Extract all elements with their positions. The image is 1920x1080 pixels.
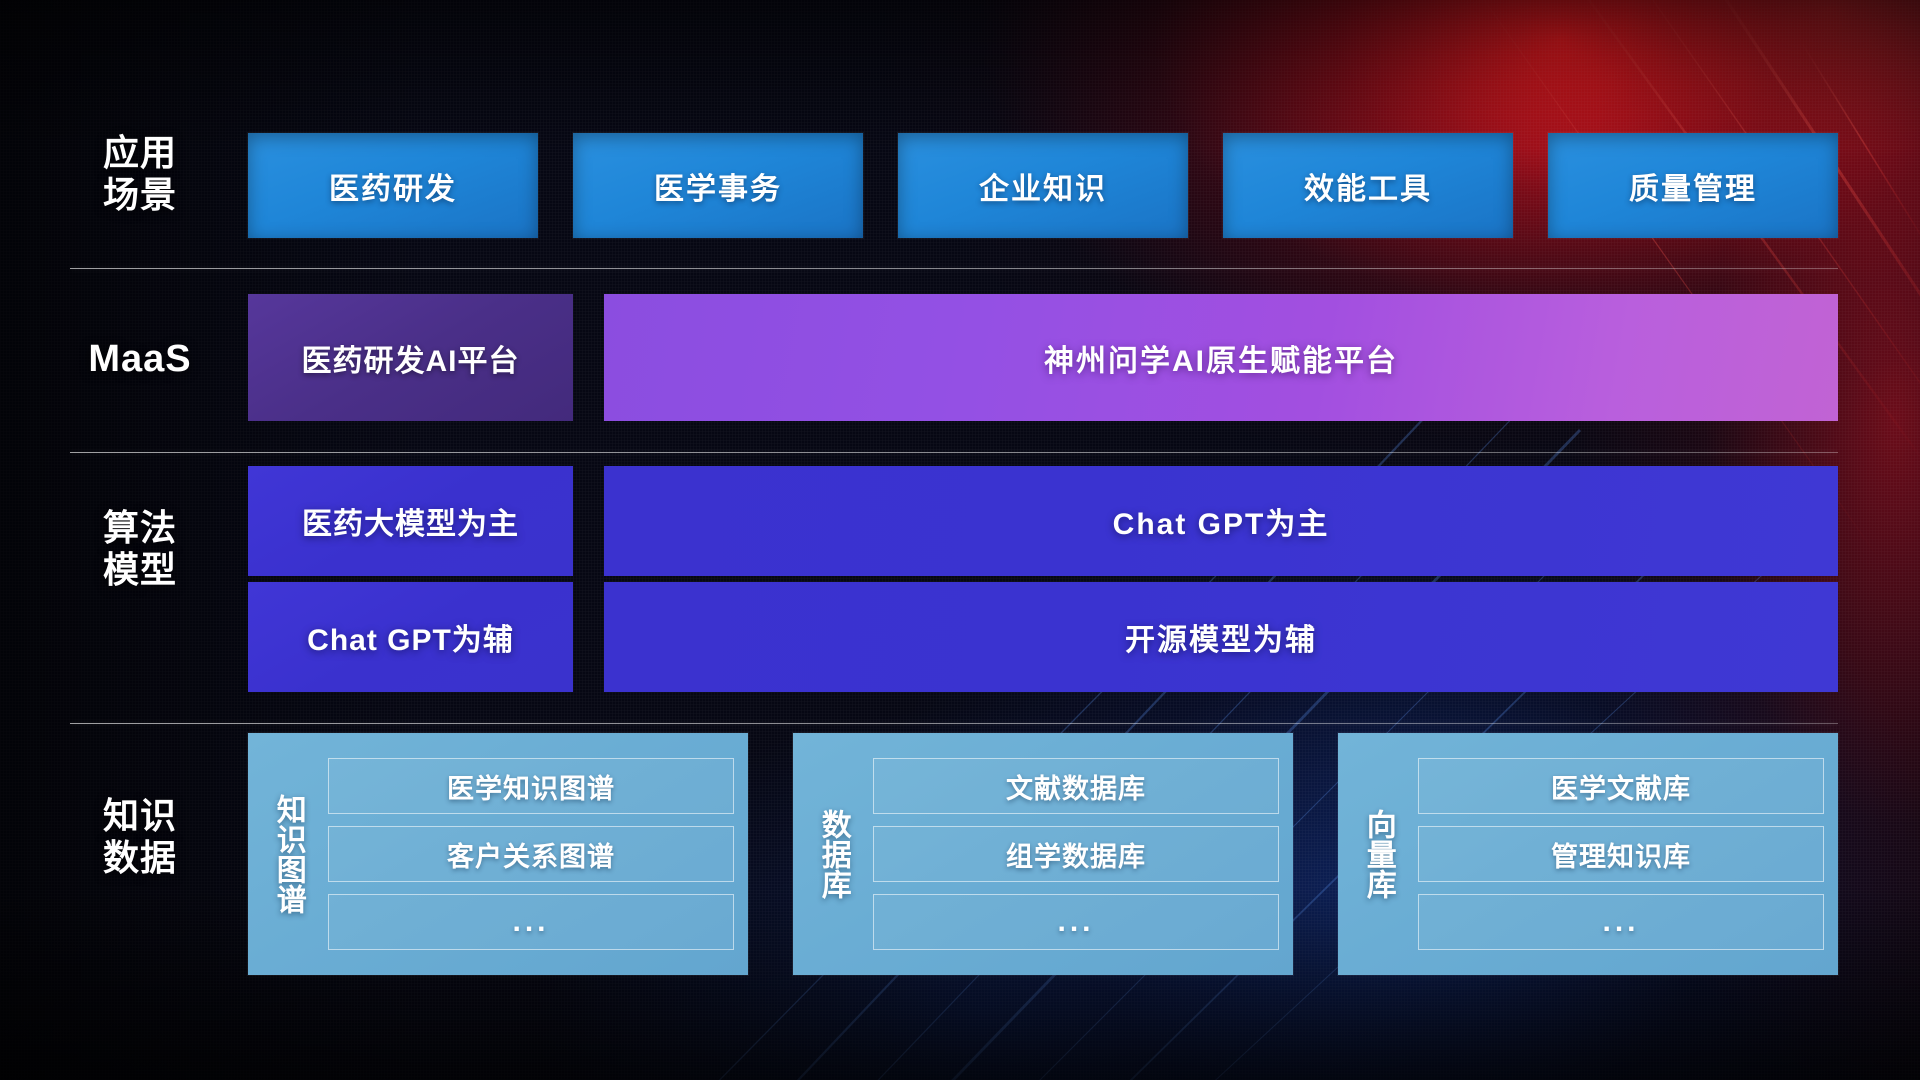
- knowledge-panel-vector-store[interactable]: 向量库 医学文献库 管理知识库 ...: [1338, 733, 1838, 975]
- knowledge-item[interactable]: 医学文献库: [1418, 758, 1824, 814]
- divider-after-maas: [70, 452, 1838, 453]
- knowledge-panel-title: 知识图谱: [262, 794, 314, 914]
- algo-tile-chatgpt-primary[interactable]: Chat GPT为主: [604, 466, 1838, 576]
- divider-after-application-scenarios: [70, 268, 1838, 269]
- algo-tile-opensource-secondary[interactable]: 开源模型为辅: [604, 582, 1838, 692]
- knowledge-item-more[interactable]: ...: [873, 894, 1279, 950]
- knowledge-panel-knowledge-graph[interactable]: 知识图谱 医学知识图谱 客户关系图谱 ...: [248, 733, 748, 975]
- knowledge-panel-database[interactable]: 数据库 文献数据库 组学数据库 ...: [793, 733, 1293, 975]
- algo-tile-medicine-llm-primary[interactable]: 医药大模型为主: [248, 466, 573, 576]
- knowledge-item-more[interactable]: ...: [1418, 894, 1824, 950]
- maas-tile-medicine-ai-platform[interactable]: 医药研发AI平台: [248, 294, 573, 421]
- knowledge-item[interactable]: 医学知识图谱: [328, 758, 734, 814]
- row-label-line: 模型: [70, 549, 210, 591]
- knowledge-panel-items: 文献数据库 组学数据库 ...: [873, 758, 1279, 950]
- row-label-line: 知识: [70, 795, 210, 837]
- app-tile-efficiency-tools[interactable]: 效能工具: [1223, 133, 1513, 238]
- knowledge-item[interactable]: 组学数据库: [873, 826, 1279, 882]
- row-label-line: 算法: [70, 507, 210, 549]
- row-label-line: 场景: [70, 174, 210, 216]
- knowledge-item[interactable]: 管理知识库: [1418, 826, 1824, 882]
- diagram-frame: 应用 场景 医药研发 医学事务 企业知识 效能工具 质量管理 MaaS 医药研发…: [0, 0, 1920, 1080]
- knowledge-item-more[interactable]: ...: [328, 894, 734, 950]
- row-label-algorithm-models: 算法 模型: [70, 507, 210, 592]
- row-label-maas: MaaS: [70, 337, 210, 382]
- row-label-line: 应用: [70, 132, 210, 174]
- knowledge-panel-title: 数据库: [807, 809, 859, 899]
- row-label-knowledge-data: 知识 数据: [70, 795, 210, 880]
- app-tile-medicine-rnd[interactable]: 医药研发: [248, 133, 538, 238]
- row-label-line: 数据: [70, 837, 210, 879]
- row-label-line: MaaS: [70, 337, 210, 382]
- app-tile-medical-affairs[interactable]: 医学事务: [573, 133, 863, 238]
- algo-tile-chatgpt-secondary[interactable]: Chat GPT为辅: [248, 582, 573, 692]
- knowledge-item[interactable]: 客户关系图谱: [328, 826, 734, 882]
- divider-after-algorithm-models: [70, 723, 1838, 724]
- knowledge-panel-title: 向量库: [1352, 809, 1404, 899]
- maas-tile-shenzhou-wenxue-platform[interactable]: 神州问学AI原生赋能平台: [604, 294, 1838, 421]
- app-tile-quality-management[interactable]: 质量管理: [1548, 133, 1838, 238]
- knowledge-item[interactable]: 文献数据库: [873, 758, 1279, 814]
- app-tile-enterprise-knowledge[interactable]: 企业知识: [898, 133, 1188, 238]
- row-label-application-scenarios: 应用 场景: [70, 132, 210, 217]
- knowledge-panel-items: 医学知识图谱 客户关系图谱 ...: [328, 758, 734, 950]
- knowledge-panel-items: 医学文献库 管理知识库 ...: [1418, 758, 1824, 950]
